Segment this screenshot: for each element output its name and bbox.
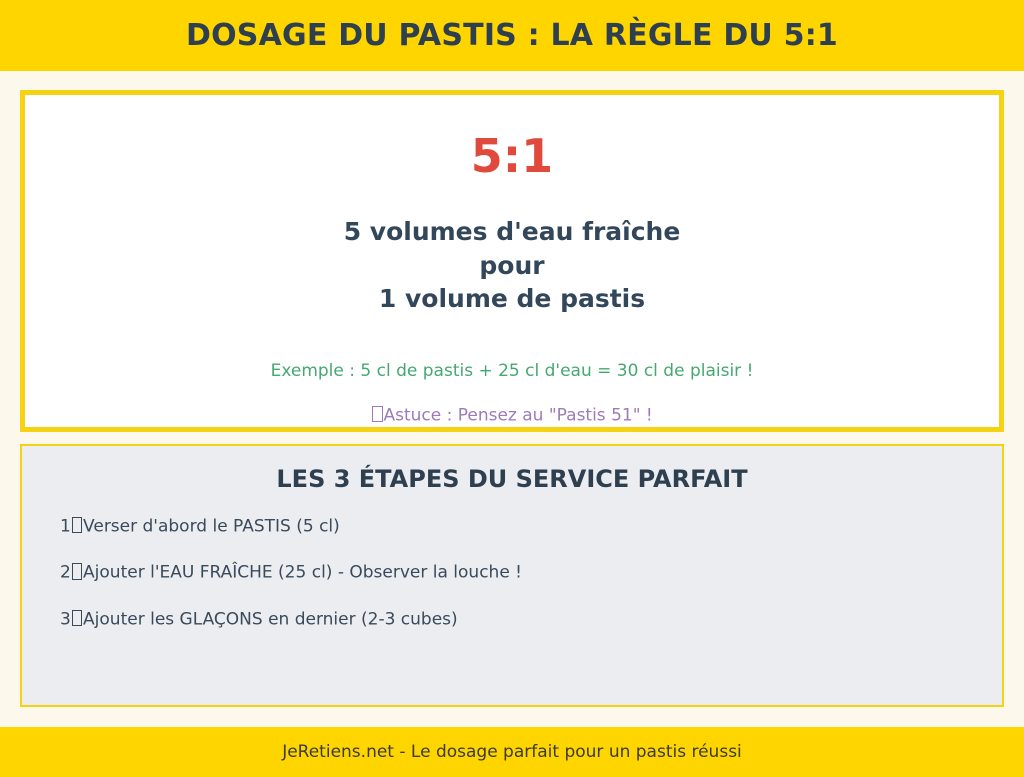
ratio-description: 5 volumes d'eau fraîche pour 1 volume de… xyxy=(344,215,681,316)
page-title: DOSAGE DU PASTIS : LA RÈGLE DU 5:1 xyxy=(186,21,838,51)
ratio-card: 5:1 5 volumes d'eau fraîche pour 1 volum… xyxy=(20,90,1004,432)
ratio-value: 5:1 xyxy=(471,133,553,179)
bottom-spacer xyxy=(20,707,1004,727)
footer-text: JeRetiens.net - Le dosage parfait pour u… xyxy=(282,744,742,761)
footer-band: JeRetiens.net - Le dosage parfait pour u… xyxy=(0,727,1024,777)
step-number: 2 xyxy=(60,563,71,583)
step-number: 3 xyxy=(60,609,71,629)
step-text: Ajouter les GLAÇONS en dernier (2-3 cube… xyxy=(83,609,458,629)
list-item: 3Ajouter les GLAÇONS en dernier (2-3 cub… xyxy=(60,610,964,628)
step-number: 1 xyxy=(60,516,71,536)
list-item: 1Verser d'abord le PASTIS (5 cl) xyxy=(60,517,964,535)
missing-glyph-box-icon xyxy=(372,406,383,422)
infographic-page: DOSAGE DU PASTIS : LA RÈGLE DU 5:1 5:1 5… xyxy=(0,0,1024,777)
step-text: Ajouter l'EAU FRAÎCHE (25 cl) - Observer… xyxy=(83,563,522,583)
ratio-line-pastis: 1 volume de pastis xyxy=(344,282,681,316)
example-text: Exemple : 5 cl de pastis + 25 cl d'eau =… xyxy=(271,363,754,380)
steps-title: LES 3 ÉTAPES DU SERVICE PARFAIT xyxy=(60,460,964,491)
steps-list: 1Verser d'abord le PASTIS (5 cl) 2Ajoute… xyxy=(60,517,964,656)
missing-glyph-box-icon xyxy=(72,563,83,579)
steps-card: LES 3 ÉTAPES DU SERVICE PARFAIT 1Verser … xyxy=(20,444,1004,707)
list-item: 2Ajouter l'EAU FRAÎCHE (25 cl) - Observe… xyxy=(60,563,964,581)
tip-text: Astuce : Pensez au "Pastis 51" ! xyxy=(383,405,652,425)
header-band: DOSAGE DU PASTIS : LA RÈGLE DU 5:1 xyxy=(0,0,1024,71)
missing-glyph-box-icon xyxy=(72,517,83,533)
missing-glyph-box-icon xyxy=(72,610,83,626)
tip-row: Astuce : Pensez au "Pastis 51" ! xyxy=(371,406,653,424)
step-text: Verser d'abord le PASTIS (5 cl) xyxy=(83,516,340,536)
content-area: 5:1 5 volumes d'eau fraîche pour 1 volum… xyxy=(0,71,1024,727)
ratio-line-water: 5 volumes d'eau fraîche xyxy=(344,215,681,249)
ratio-line-for: pour xyxy=(344,249,681,283)
